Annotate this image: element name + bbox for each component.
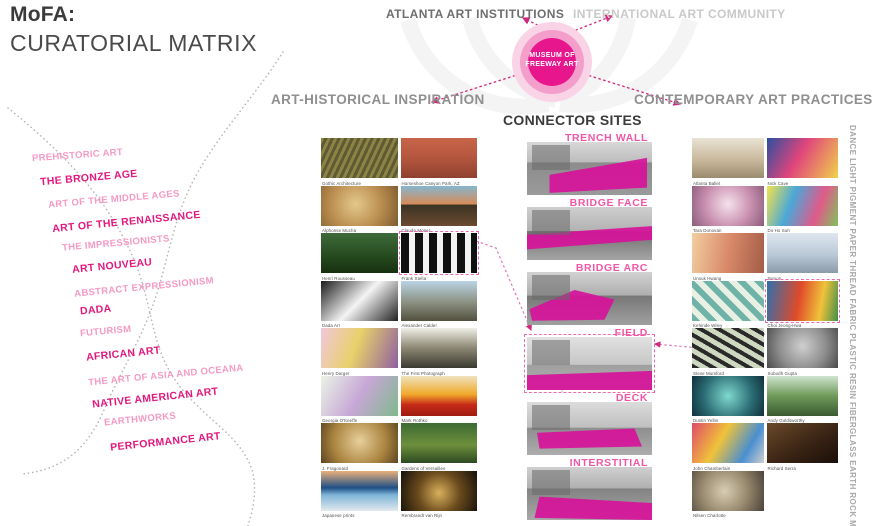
thumbnail-image[interactable]	[692, 423, 764, 463]
movement-item[interactable]: THE IMPRESSIONISTS	[62, 233, 170, 253]
thumbnail-item[interactable]: Japanese prints	[321, 471, 398, 518]
label-atlanta-art-institutions: ATLANTA ART INSTITUTIONS	[386, 7, 564, 21]
movement-item[interactable]: PERFORMANCE ART	[110, 430, 222, 454]
thumbnail-image[interactable]	[401, 376, 478, 416]
connector-site-item[interactable]: DECK	[527, 393, 652, 455]
movement-item[interactable]: PREHISTORIC ART	[32, 147, 124, 164]
thumbnail-item[interactable]: Andy Goldsworthy	[767, 376, 839, 423]
contemporary-art-grid: Atlanta BalletNick CaveTara DonovanDo Ho…	[692, 138, 838, 517]
thumbnail-caption: Rembrandt van Rijn	[402, 513, 443, 518]
thumbnail-item[interactable]: Frank Stella	[401, 233, 478, 280]
connector-site-structure	[532, 340, 570, 364]
thumbnail-item[interactable]: Dustin Yellin	[692, 376, 764, 423]
movement-item[interactable]: THE ART OF ASIA AND OCEANA	[88, 363, 244, 389]
thumbnail-item[interactable]: Unsuk Hwang	[692, 233, 764, 280]
thumbnail-item[interactable]: Alexander Calder	[401, 281, 478, 328]
thumbnail-item[interactable]: Gothic Architecture	[321, 138, 398, 185]
movement-item[interactable]: NATIVE AMERICAN ART	[92, 385, 219, 410]
thumbnail-item[interactable]: Horseshoe Canyon Park, AZ	[401, 138, 478, 185]
thumbnail-image[interactable]	[401, 471, 478, 511]
thumbnail-item[interactable]: Kehinde Wiley	[692, 281, 764, 328]
thumbnail-item[interactable]: Henry Darger	[321, 328, 398, 375]
thumbnail-item[interactable]: Dada Art	[321, 281, 398, 328]
connector-site-item[interactable]: TRENCH WALL	[527, 133, 652, 195]
thumbnail-image[interactable]	[321, 186, 398, 226]
label-contemporary-art-practices: CONTEMPORARY ART PRACTICES	[634, 92, 873, 107]
connector-site-image[interactable]	[527, 337, 652, 390]
thumbnail-image[interactable]	[692, 376, 764, 416]
movement-item[interactable]: EARTHWORKS	[104, 411, 177, 429]
thumbnail-image[interactable]	[401, 281, 478, 321]
thumbnail-image[interactable]	[401, 328, 478, 368]
thumbnail-image[interactable]	[401, 186, 478, 226]
thumbnail-image[interactable]	[692, 138, 764, 178]
thumbnail-image[interactable]	[321, 281, 398, 321]
thumbnail-item[interactable]: Atlanta Ballet	[692, 138, 764, 185]
thumbnail-item[interactable]: John Chamberlain	[692, 423, 764, 470]
connector-site-item[interactable]: BRIDGE ARC	[527, 263, 652, 325]
thumbnail-item[interactable]: Nick Cave	[767, 138, 839, 185]
title-line-1: MoFA:	[10, 2, 257, 28]
thumbnail-caption: Japanese prints	[322, 513, 355, 518]
movement-item[interactable]: ART NOUVEAU	[72, 256, 153, 276]
thumbnail-item[interactable]: Alphonse Mucha	[321, 186, 398, 233]
connector-site-label: INTERSTITIAL	[570, 457, 648, 469]
art-movement-list: PREHISTORIC ARTTHE BRONZE AGEART OF THE …	[0, 150, 300, 510]
thumbnail-caption: Richard Serra	[768, 466, 796, 471]
thumbnail-image[interactable]	[692, 328, 764, 368]
thumbnail-image[interactable]	[321, 376, 398, 416]
thumbnail-image[interactable]	[767, 376, 839, 416]
connector-site-structure	[532, 405, 570, 429]
thumbnail-item[interactable]: Rembrandt van Rijn	[401, 471, 478, 518]
thumbnail-item[interactable]: Richard Serra	[767, 423, 839, 470]
connector-site-image[interactable]	[527, 467, 652, 520]
thumbnail-image[interactable]	[321, 471, 398, 511]
movement-item[interactable]: ART OF THE MIDDLE AGES	[48, 188, 180, 210]
thumbnail-item[interactable]: The First Photograph	[401, 328, 478, 375]
connector-site-item[interactable]: INTERSTITIAL	[527, 458, 652, 520]
thumbnail-image[interactable]	[401, 233, 478, 273]
label-art-historical-inspiration: ART-HISTORICAL INSPIRATION	[271, 92, 485, 107]
connector-site-label: BRIDGE ARC	[576, 262, 648, 274]
thumbnail-image[interactable]	[321, 233, 398, 273]
thumbnail-item[interactable]: Henri Rousseau	[321, 233, 398, 280]
connector-site-image[interactable]	[527, 142, 652, 195]
thumbnail-item[interactable]: J. Fragonard	[321, 423, 398, 470]
thumbnail-image[interactable]	[321, 328, 398, 368]
connector-site-structure	[532, 210, 570, 234]
thumbnail-image[interactable]	[767, 281, 839, 321]
thumbnail-item[interactable]: Steve Mumford	[692, 328, 764, 375]
connector-site-label: FIELD	[615, 327, 648, 339]
thumbnail-item[interactable]: Georgia O'Keeffe	[321, 376, 398, 423]
connector-site-item[interactable]: FIELD	[527, 328, 652, 390]
materials-list: DANCE LIGHT PIGMENT PAPER THREAD FABRIC …	[843, 125, 857, 495]
thumbnail-image[interactable]	[767, 423, 839, 463]
thumbnail-item[interactable]: Do Ho Suh	[767, 186, 839, 233]
connector-site-label: DECK	[616, 392, 648, 404]
thumbnail-image[interactable]	[692, 281, 764, 321]
thumbnail-image[interactable]	[401, 138, 478, 178]
connector-site-structure	[532, 145, 570, 169]
thumbnail-image[interactable]	[692, 186, 764, 226]
connector-sites-column: TRENCH WALLBRIDGE FACEBRIDGE ARCFIELDDEC…	[527, 133, 652, 523]
thumbnail-image[interactable]	[767, 186, 839, 226]
thumbnail-item[interactable]: Gardens of Versailles	[401, 423, 478, 470]
connector-site-label: TRENCH WALL	[565, 132, 648, 144]
connector-site-label: BRIDGE FACE	[570, 197, 648, 209]
thumbnail-item[interactable]: Swoon	[767, 233, 839, 280]
page-title: MoFA: CURATORIAL MATRIX	[10, 2, 257, 58]
movement-item[interactable]: AFRICAN ART	[86, 344, 161, 363]
connector-site-structure	[532, 470, 570, 494]
thumbnail-item[interactable]: Choi Jeong-Hwa	[767, 281, 839, 328]
thumbnail-item[interactable]: Tara Donovan	[692, 186, 764, 233]
thumbnail-caption: Nilsen Charlotte	[693, 513, 726, 518]
hub-label: MUSEUM OFFREEWAY ART	[506, 51, 598, 69]
thumbnail-item[interactable]: Nilsen Charlotte	[692, 471, 764, 518]
thumbnail-image[interactable]	[767, 138, 839, 178]
thumbnail-image[interactable]	[692, 233, 764, 273]
movement-item[interactable]: ABSTRACT EXPRESSIONISM	[74, 275, 215, 299]
thumbnail-image[interactable]	[767, 328, 839, 368]
connector-sites-title: CONNECTOR SITES	[503, 112, 642, 128]
thumbnail-item[interactable]: Claude Monet	[401, 186, 478, 233]
movement-item[interactable]: FUTURISM	[80, 324, 132, 339]
curatorial-matrix-diagram: MoFA: CURATORIAL MATRIX	[0, 0, 882, 526]
thumbnail-image[interactable]	[767, 233, 839, 273]
thumbnail-item[interactable]: Subodh Gupta	[767, 328, 839, 375]
movement-item[interactable]: THE BRONZE AGE	[40, 168, 138, 188]
label-international-art-community: INTERNATIONAL ART COMMUNITY	[573, 7, 786, 21]
connector-site-image[interactable]	[527, 272, 652, 325]
connector-site-item[interactable]: BRIDGE FACE	[527, 198, 652, 260]
movement-item[interactable]: DADA	[79, 303, 112, 318]
thumbnail-image[interactable]	[401, 423, 478, 463]
thumbnail-image[interactable]	[321, 423, 398, 463]
connector-site-structure	[532, 275, 570, 299]
movement-item[interactable]: ART OF THE RENAISSANCE	[52, 209, 201, 235]
thumbnail-image[interactable]	[692, 471, 764, 511]
title-line-2: CURATORIAL MATRIX	[10, 28, 257, 58]
thumbnail-item[interactable]: Mark Rothko	[401, 376, 478, 423]
connector-site-image[interactable]	[527, 402, 652, 455]
thumbnail-image[interactable]	[321, 138, 398, 178]
art-historical-grid: Gothic ArchitectureHorseshoe Canyon Park…	[321, 138, 477, 517]
connector-site-image[interactable]	[527, 207, 652, 260]
